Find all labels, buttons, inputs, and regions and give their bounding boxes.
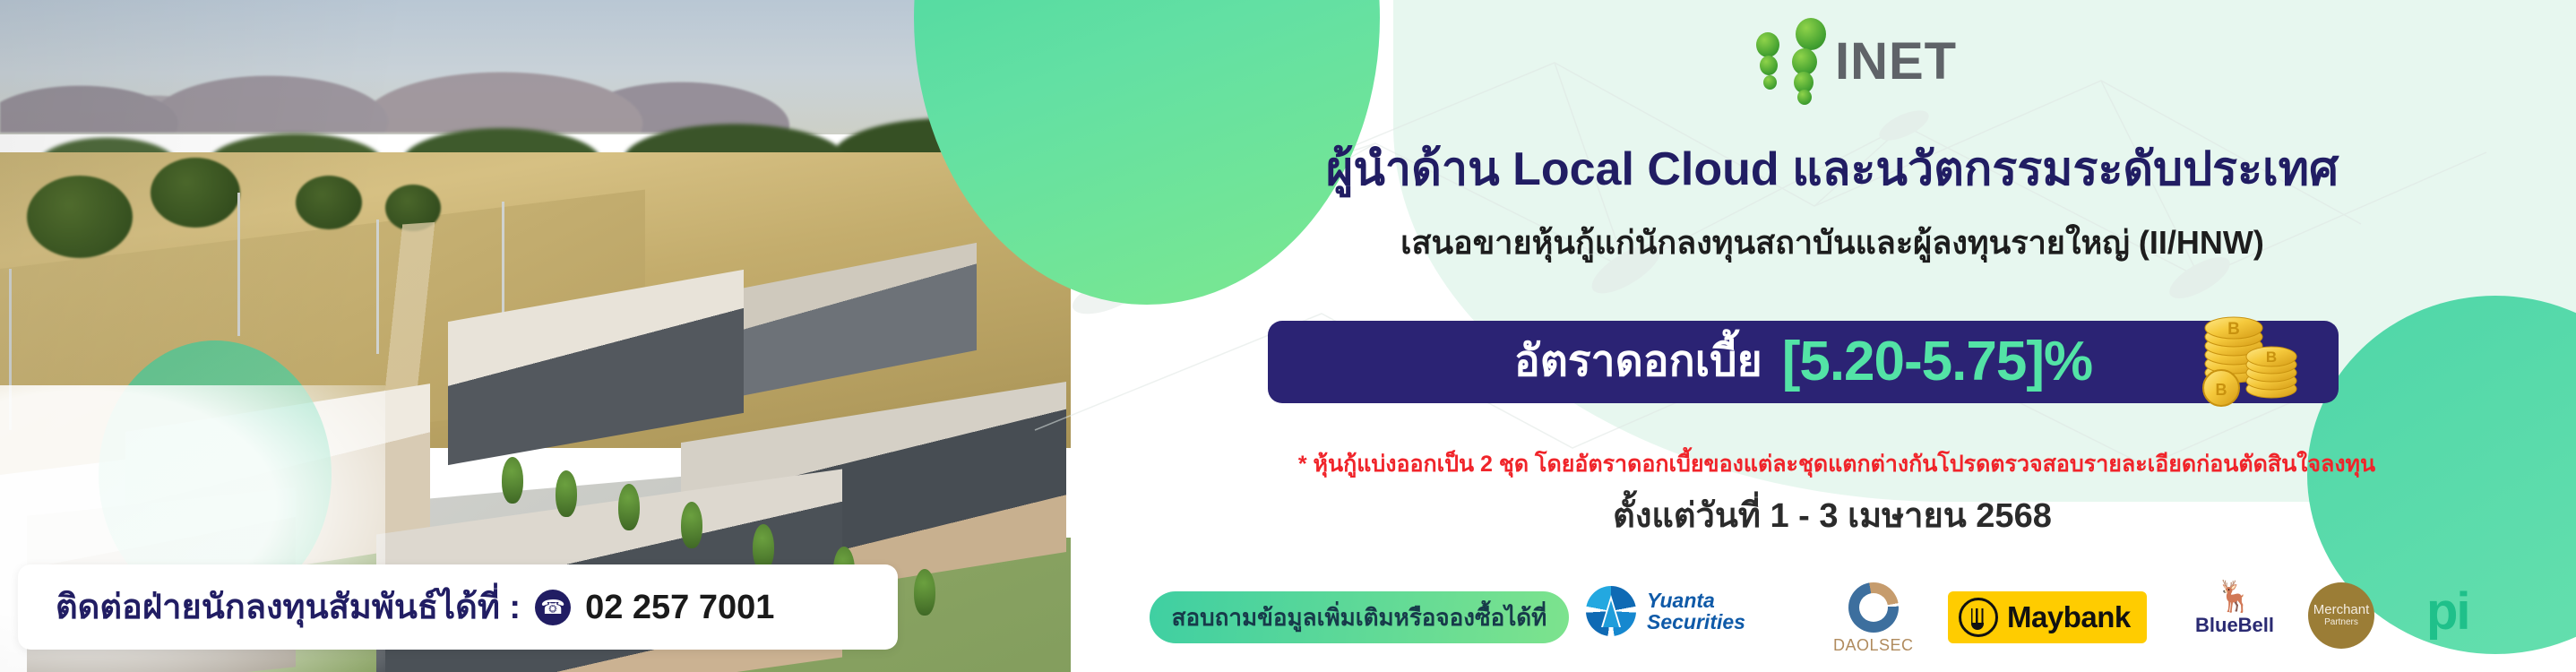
pi-wordmark-icon: pi — [2426, 586, 2469, 638]
promo-banner: INET ผู้นำด้าน Local Cloud และนวัตกรรมระ… — [0, 0, 2576, 672]
rate-label: อัตราดอกเบี้ย — [1514, 339, 1762, 385]
yuanta-wordmark: Yuanta Securities — [1647, 590, 1745, 633]
daol-bars-icon — [1861, 606, 1880, 624]
disclaimer-footnote: * หุ้นกู้แบ่งออกเป็น 2 ชุด โดยอัตราดอกเบ… — [1120, 450, 2554, 478]
cta-pill-button[interactable]: สอบถามข้อมูลเพิ่มเติมหรือจองซื้อได้ที่ — [1150, 591, 1569, 643]
maybank-tiger-icon — [1959, 598, 1998, 637]
partner-pi[interactable]: pi — [2426, 586, 2469, 638]
interest-rate-badge: อัตราดอกเบี้ย [5.20-5.75]% B — [1268, 321, 2339, 403]
gold-coins-icon: B B B — [2191, 296, 2307, 412]
inet-wordmark: INET — [1835, 36, 1957, 88]
page-subtitle: เสนอขายหุ้นกู้แก่นักลงทุนสถาบันและผู้ลงท… — [1196, 222, 2468, 263]
partner-daol-sec[interactable]: DAOLSEC — [1833, 582, 1914, 655]
partner-yuanta-securities[interactable]: Yuanta Securities — [1586, 586, 1745, 636]
offering-dateline: ตั้งแต่วันที่ 1 - 3 เมษายน 2568 — [1196, 495, 2468, 538]
daol-wordmark: DAOLSEC — [1833, 636, 1914, 655]
bluebell-deer-icon: 🦌 — [2216, 581, 2253, 613]
yuanta-star-icon — [1586, 586, 1636, 636]
inet-logo: INET — [1747, 16, 2052, 88]
maybank-wordmark: Maybank — [2007, 602, 2131, 633]
partner-maybank[interactable]: Maybank — [1948, 591, 2147, 643]
partner-merchant-partners[interactable]: Merchant Partners — [2308, 582, 2374, 649]
svg-text:B: B — [2227, 320, 2240, 339]
daol-circle-chart-icon — [1848, 582, 1899, 633]
partner-bluebell[interactable]: 🦌 BlueBell — [2195, 581, 2274, 636]
contact-label: ติดต่อฝ่ายนักลงทุนสัมพันธ์ได้ที่ : — [56, 588, 521, 627]
merchant-circle-icon: Merchant Partners — [2308, 582, 2374, 649]
phone-icon: ☎ — [535, 590, 571, 625]
investor-relations-contact-card: ติดต่อฝ่ายนักลงทุนสัมพันธ์ได้ที่ : ☎ 02 … — [18, 564, 898, 650]
bluebell-wordmark: BlueBell — [2195, 615, 2274, 636]
inet-dots-icon — [1747, 16, 1846, 88]
contact-phone-number[interactable]: 02 257 7001 — [585, 588, 774, 627]
rate-value: [5.20-5.75]% — [1782, 334, 2092, 390]
svg-text:B: B — [2216, 381, 2227, 399]
page-title: ผู้นำด้าน Local Cloud และนวัตกรรมระดับปร… — [1196, 142, 2468, 197]
svg-text:B: B — [2266, 349, 2277, 366]
partner-logos: Yuanta Securities DAOLSEC Maybank 🦌 Blue… — [1586, 581, 2536, 658]
